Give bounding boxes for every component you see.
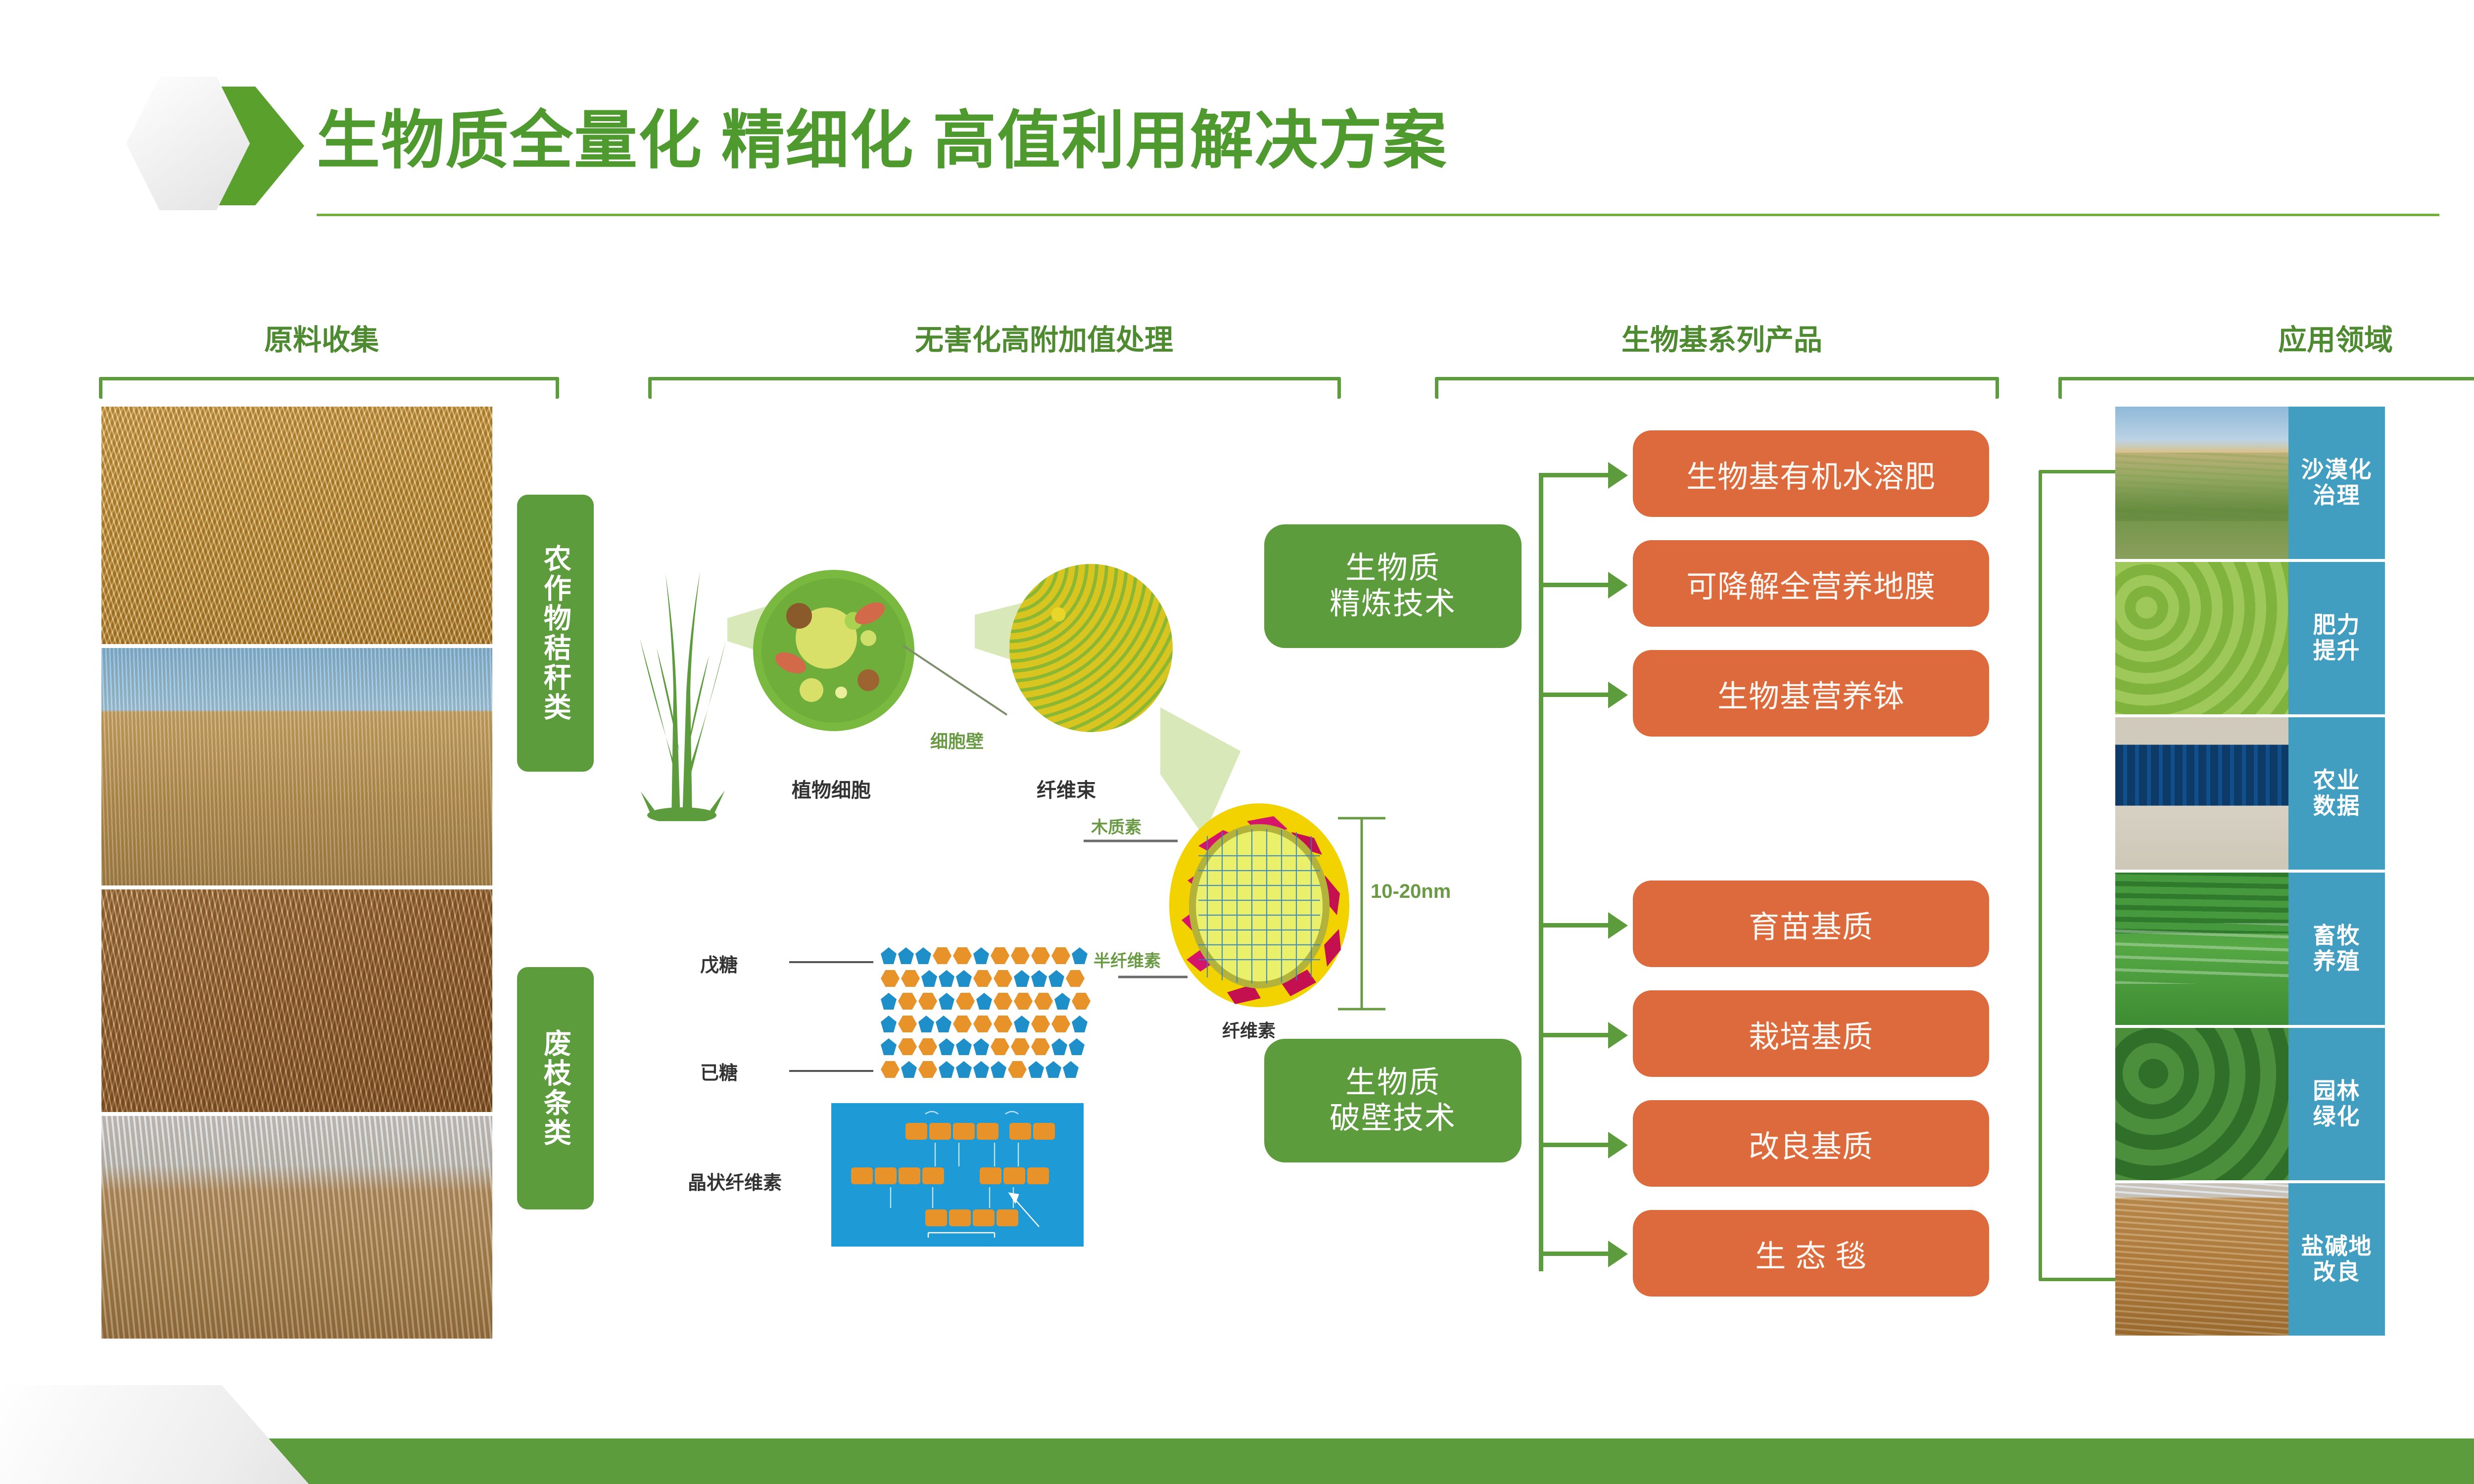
pentose-unit [956,970,972,987]
application-row[interactable]: 肥力提升 [2115,562,2385,714]
product-box-degradable-mulch-film[interactable]: 可降解全营养地膜 [1633,540,1989,627]
pentose-unit [973,947,989,964]
hexose-unit [1011,947,1030,964]
connector-refining-spine [1539,475,1543,970]
feedstock-category-crop-straw: 农作物秸秆类 [517,495,594,772]
application-tag-line1: 农业 [2313,768,2361,793]
tech-wall-line2: 破壁技术 [1330,1101,1456,1136]
title-underline [317,214,2439,216]
pentose-unit [991,1061,1006,1078]
hexose-unit [991,947,1009,964]
hexose-unit [898,1016,917,1032]
sugar-chain-row [881,1016,1088,1032]
hexose-unit [953,947,972,964]
arrow-wall-4 [1608,1241,1628,1267]
label-lignin: 木质素 [1091,814,1142,838]
pentose-unit [1054,993,1070,1010]
column-header-collection: 原料收集 [163,317,480,358]
fiber-bundle-illustration [1009,564,1173,732]
pentose-unit [918,1016,934,1032]
pentose-unit [1031,970,1047,987]
application-row[interactable]: 盐碱地改良 [2115,1183,2385,1336]
application-tag: 沙漠化治理 [2288,407,2385,559]
product-box-ecological-blanket[interactable]: 生 态 毯 [1633,1210,1989,1297]
pentose-unit [939,970,954,987]
pentose-unit [898,947,914,964]
bracket-collection [99,377,559,399]
hexose-unit [1011,1038,1030,1055]
label-plant-cell: 植物细胞 [792,774,871,803]
bracket-products [1435,377,1999,399]
page-title: 生物质全量化 精细化 高值利用解决方案 [317,89,1447,181]
sugar-chain-row [881,970,1085,987]
dry-branches-photo [101,889,492,1112]
hexose-unit [991,1038,1009,1055]
tech-box-wall-breaking[interactable]: 生物质 破壁技术 [1264,1039,1522,1162]
crystalline-cellulose-illustration [831,1103,1084,1247]
arrow-refining-3 [1608,682,1628,708]
scale-measure-bracket [1336,815,1390,1012]
connector-wall-branch-3 [1539,1143,1613,1147]
pentose-unit [881,1016,897,1032]
label-cell-wall: 细胞壁 [930,727,984,753]
connector-wall-branch-4 [1539,1252,1613,1256]
sugar-chain-row [881,993,1091,1010]
hexose-unit [1034,993,1053,1010]
arrow-refining-1 [1608,462,1628,489]
hexose-unit [918,1061,937,1078]
pentose-unit [1028,1061,1044,1078]
pentose-unit [956,1038,972,1055]
pentose-unit [1072,947,1088,964]
corn-stalk-field-photo [101,407,492,644]
arrow-wall-1 [1608,912,1628,939]
bracket-application [2058,377,2474,399]
label-hemicellulose: 半纤维素 [1094,947,1161,972]
application-row[interactable]: 农业数据 [2115,717,2385,870]
hexose-unit [1014,993,1033,1010]
application-tag: 肥力提升 [2288,562,2385,714]
sugar-chain-row [881,947,1088,964]
plant-cell-illustration [752,569,915,732]
application-tag-line2: 绿化 [2313,1104,2361,1130]
hexose-unit [1051,1016,1070,1032]
hexose-unit [1031,947,1050,964]
product-box-nutrient-pot[interactable]: 生物基营养钵 [1633,650,1989,737]
hexose-unit [898,1038,917,1055]
tech-refining-line2: 精炼技术 [1330,586,1456,622]
tech-box-refining[interactable]: 生物质 精炼技术 [1264,524,1522,648]
pentose-unit [1048,970,1064,987]
connector-refining-branch-2 [1539,583,1613,587]
connector-wall-branch-2 [1539,1033,1613,1037]
pentose-unit [901,1061,917,1078]
hexose-unit [881,1061,900,1078]
pentose-unit [939,1038,954,1055]
pentose-unit [1072,1016,1088,1032]
grass-plant-icon [631,544,735,821]
connector-refining-branch-3 [1539,693,1613,697]
connector-wall-spine [1539,925,1543,1271]
application-tag: 盐碱地改良 [2288,1183,2385,1336]
application-row[interactable]: 畜牧养殖 [2115,873,2385,1025]
hexose-unit [994,970,1012,987]
hexose-unit [881,970,900,987]
pentose-unit [1014,970,1030,987]
arrow-wall-2 [1608,1022,1628,1049]
pentose-unit [921,970,937,987]
saline-soil-photo [2115,1183,2288,1336]
pentose-unit [1069,1038,1085,1055]
pentose-unit [973,1038,989,1055]
pentose-unit [1051,1038,1067,1055]
bottom-green-bar [0,1438,2474,1484]
cell-wall-leader-line [901,643,1014,732]
application-tag-line2: 数据 [2313,793,2361,819]
hexagon-logo-icon [126,77,275,210]
application-tag-line1: 肥力 [2313,612,2361,638]
hexose-unit [994,1016,1012,1032]
application-row[interactable]: 园林绿化 [2115,1028,2385,1180]
slide-canvas: 生物质全量化 精细化 高值利用解决方案 原料收集 无害化高附加值处理 生物基系列… [0,0,2474,1484]
bracket-processing [648,377,1341,399]
desert-restoration-photo [2115,407,2288,559]
product-box-improvement-substrate[interactable]: 改良基质 [1633,1100,1989,1187]
application-tag-line2: 养殖 [2313,949,2361,974]
application-tag-line2: 治理 [2313,483,2361,509]
column-header-application: 应用领域 [2113,317,2474,358]
pentose-unit [915,947,931,964]
pentose-unit [936,1016,952,1032]
label-fiber-bundle: 纤维束 [1037,774,1096,803]
hexose-unit [1051,947,1070,964]
hexose-unit [1008,1061,1027,1078]
hexose-unit [918,993,937,1010]
connector-refining-branch-1 [1539,473,1613,477]
hexose-unit [901,970,920,987]
hexose-unit [994,993,1012,1010]
product-box-seedling-substrate[interactable]: 育苗基质 [1633,881,1989,967]
orchard-pruning-photo [101,1116,492,1339]
product-box-water-soluble-fertilizer[interactable]: 生物基有机水溶肥 [1633,430,1989,517]
application-tag-line2: 改良 [2313,1259,2361,1285]
pentose-leader-line [789,955,876,970]
arrow-wall-3 [1608,1132,1628,1159]
hexose-unit [918,1038,937,1055]
label-crystalline-cellulose: 晶状纤维素 [688,1167,782,1195]
pentose-unit [1046,1061,1061,1078]
application-tag: 畜牧养殖 [2288,873,2385,1025]
pentose-unit [1014,1016,1030,1032]
hexose-unit [973,970,992,987]
connector-wall-branch-1 [1539,923,1613,927]
pentose-unit [1063,1061,1079,1078]
pentose-unit [973,1061,989,1078]
application-tag-line1: 沙漠化 [2301,457,2373,483]
label-pentose: 戊糖 [700,950,738,977]
column-header-processing: 无害化高附加值处理 [648,317,1440,358]
hexose-unit [1031,1016,1050,1032]
product-box-cultivation-substrate[interactable]: 栽培基质 [1633,990,1989,1077]
data-control-room-photo [2115,717,2288,870]
hexose-leader-line [789,1064,876,1078]
application-tag-line1: 盐碱地 [2301,1234,2373,1259]
label-hexose: 已糖 [700,1058,738,1085]
arrow-refining-2 [1608,572,1628,599]
tech-refining-line1: 生物质 [1345,551,1440,586]
hexose-unit [956,993,975,1010]
pentose-unit [976,993,992,1010]
hexose-unit [953,1016,972,1032]
hexose-unit [898,993,917,1010]
hexose-unit [1031,1038,1050,1055]
sugar-chain-row [881,1061,1079,1078]
hexose-unit [1072,993,1091,1010]
feedstock-category-waste-branches: 废枝条类 [517,967,594,1209]
pentose-unit [881,1038,897,1055]
pentose-unit [956,1061,972,1078]
park-landscape-photo [2115,1028,2288,1180]
column-header-products: 生物基系列产品 [1425,317,2019,358]
pentose-unit [939,1061,954,1078]
application-tag: 园林绿化 [2288,1028,2385,1180]
label-scale-10-20nm: 10-20nm [1371,881,1451,903]
application-tag-line1: 园林 [2313,1078,2361,1104]
pentose-unit [939,993,954,1010]
application-tag: 农业数据 [2288,717,2385,870]
sheep-grazing-photo [2115,873,2288,1025]
hexose-unit [933,947,952,964]
straw-bale-photo [101,648,492,885]
application-tag-line1: 畜牧 [2313,923,2361,949]
sugar-chain-row [881,1038,1085,1055]
label-cellulose: 纤维素 [1222,1017,1276,1042]
pentose-unit [881,993,897,1010]
hexose-unit [1066,970,1085,987]
application-row[interactable]: 沙漠化治理 [2115,407,2385,559]
hexose-unit [973,1016,992,1032]
pentose-unit [881,947,897,964]
tech-wall-line1: 生物质 [1345,1065,1440,1101]
cabbage-field-photo [2115,562,2288,714]
application-tag-line2: 提升 [2313,638,2361,664]
